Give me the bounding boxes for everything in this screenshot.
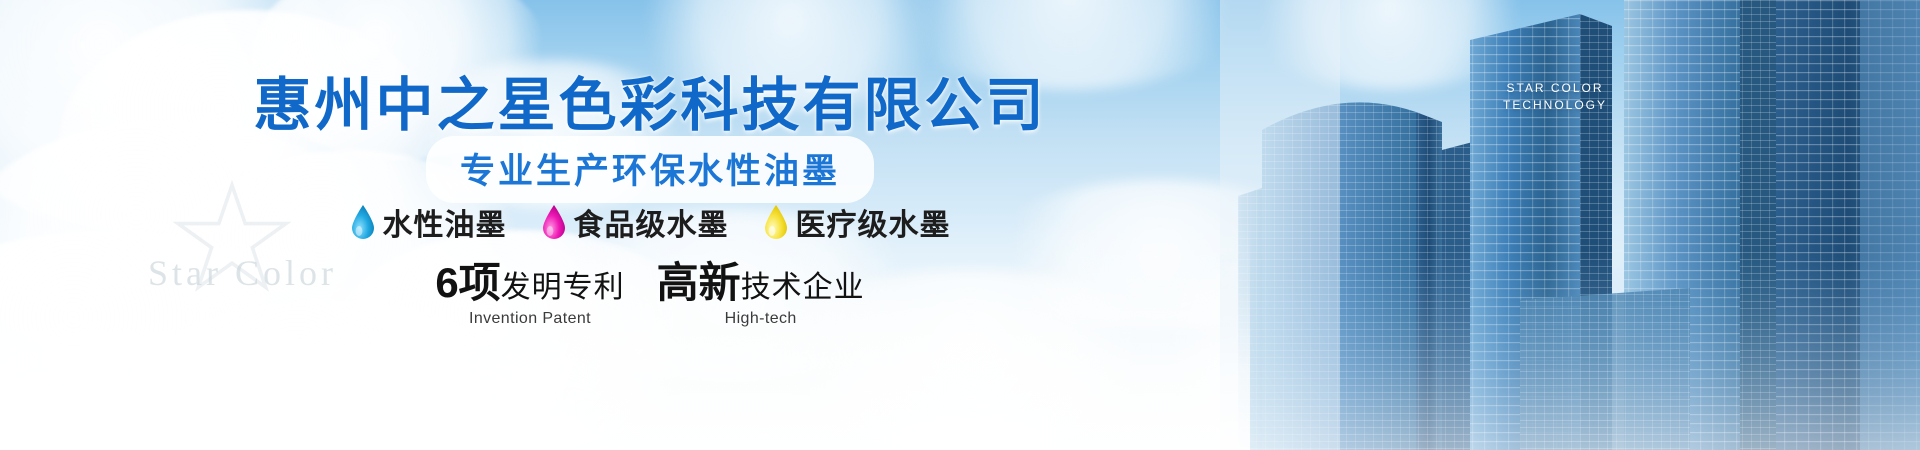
feature-item: 食品级水墨 bbox=[541, 200, 729, 244]
credential-rest: 发明专利 bbox=[501, 271, 625, 304]
credential-rest: 技术企业 bbox=[741, 271, 865, 304]
feature-label: 食品级水墨 bbox=[574, 200, 729, 244]
credential-item: 高新技术企业 High-tech bbox=[657, 262, 865, 328]
credential-english: High-tech bbox=[657, 310, 865, 328]
city-skyline-photo bbox=[1220, 0, 1920, 450]
subtitle-container: 专业生产环保水性油墨 bbox=[0, 136, 1300, 203]
ink-drop-icon bbox=[350, 204, 376, 240]
feature-label: 水性油墨 bbox=[383, 200, 507, 244]
feature-item: 水性油墨 bbox=[350, 200, 507, 244]
credential-highlight: 6项 bbox=[435, 259, 500, 306]
feature-item: 医疗级水墨 bbox=[763, 200, 951, 244]
promo-banner: Star Color STAR COLOR TECHNOLOGY 惠州中之星色彩… bbox=[0, 0, 1920, 450]
brandmark-line-2: TECHNOLOGY bbox=[1490, 97, 1620, 114]
ink-drop-icon bbox=[763, 204, 789, 240]
ink-drop-icon bbox=[541, 204, 567, 240]
credential-highlight: 高新 bbox=[657, 259, 741, 306]
company-title: 惠州中之星色彩科技有限公司 bbox=[0, 58, 1300, 142]
brandmark: STAR COLOR TECHNOLOGY bbox=[1490, 80, 1620, 115]
credential-main: 高新技术企业 bbox=[657, 262, 865, 304]
banner-content: 惠州中之星色彩科技有限公司 专业生产环保水性油墨 水性油 bbox=[0, 0, 1300, 450]
feature-list: 水性油墨 食品级水墨 bbox=[0, 200, 1300, 244]
credential-english: Invention Patent bbox=[435, 310, 624, 328]
credential-item: 6项发明专利 Invention Patent bbox=[435, 262, 624, 328]
credential-main: 6项发明专利 bbox=[435, 262, 624, 304]
credentials-list: 6项发明专利 Invention Patent 高新技术企业 High-tech bbox=[0, 262, 1300, 328]
feature-label: 医疗级水墨 bbox=[796, 200, 951, 244]
skyline-svg bbox=[1220, 0, 1920, 450]
subtitle-pill: 专业生产环保水性油墨 bbox=[426, 136, 874, 203]
brandmark-line-1: STAR COLOR bbox=[1490, 80, 1620, 97]
